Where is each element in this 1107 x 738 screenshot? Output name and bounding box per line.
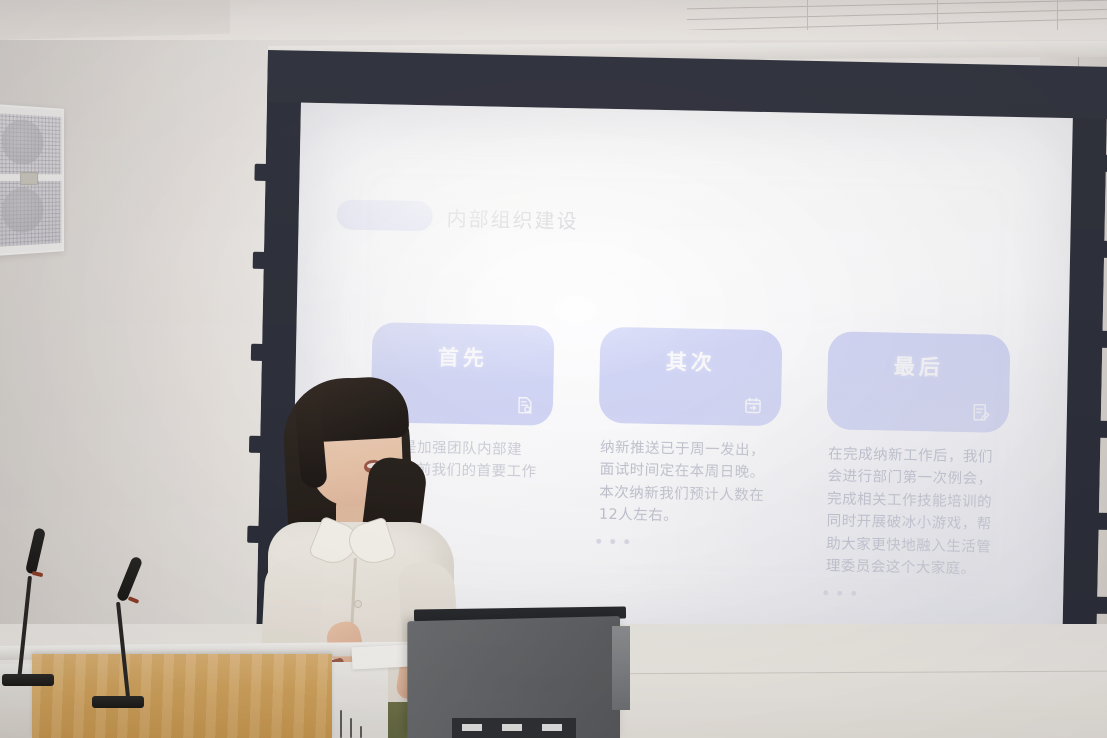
screen-tension-tab — [1093, 597, 1107, 614]
screen-tension-tab — [1095, 513, 1107, 530]
card-body-text: 纳新推送已于周一发出，面试时间定在本周日晚。本次纳新我们预计人数在12人左右。 — [597, 437, 781, 531]
shirt-button — [354, 600, 362, 608]
wooden-podium — [32, 654, 332, 738]
paper-sheet — [351, 644, 410, 669]
calendar-icon — [743, 396, 763, 416]
slide-title-row: 内部组织建设 — [336, 199, 579, 234]
screen-tension-tab — [251, 344, 266, 361]
ceiling-soffit — [0, 0, 230, 40]
screen-tension-tab — [1100, 241, 1107, 258]
ceiling-tile-grid — [687, 0, 1107, 30]
screen-tension-tab — [1098, 331, 1107, 348]
presentation-photo-scene: 内部组织建设 首先 — [0, 0, 1107, 738]
mic-base — [92, 696, 144, 708]
monitor-side-panel — [612, 626, 630, 710]
document-search-icon — [515, 395, 535, 415]
card-label: 最后 — [894, 351, 945, 382]
monitor-stand — [452, 718, 576, 738]
wall-speaker — [0, 104, 64, 256]
card-label: 其次 — [666, 346, 717, 377]
mic-base — [2, 674, 54, 686]
speaker-bracket — [20, 172, 38, 185]
card-label: 首先 — [438, 341, 489, 372]
card-body-text: 在完成纳新工作后，我们会进行部门第一次例会，完成相关工作技能培训的同时开展破冰小… — [824, 443, 1009, 581]
slide-title: 内部组织建设 — [446, 202, 579, 234]
card-dots — [823, 590, 1005, 599]
slide-card: 其次 纳新推送已于周一发出，面试时间定在本周日晚。本次纳新我们预计人数在12人左… — [595, 327, 782, 594]
screen-tension-tab — [253, 252, 268, 269]
screen-tension-tab — [254, 164, 269, 181]
title-accent-pill — [336, 199, 433, 231]
form-edit-icon — [971, 402, 991, 422]
card-dots — [596, 539, 778, 548]
card-header: 其次 — [599, 327, 783, 427]
card-header: 最后 — [827, 331, 1011, 433]
screen-tension-tab — [1096, 421, 1107, 438]
slide-card: 最后 在完成纳新工作后，我们会进行部门第一次例会，完成相关工作技能培训的同时开展… — [823, 331, 1010, 598]
screen-tension-tab — [1102, 155, 1107, 172]
